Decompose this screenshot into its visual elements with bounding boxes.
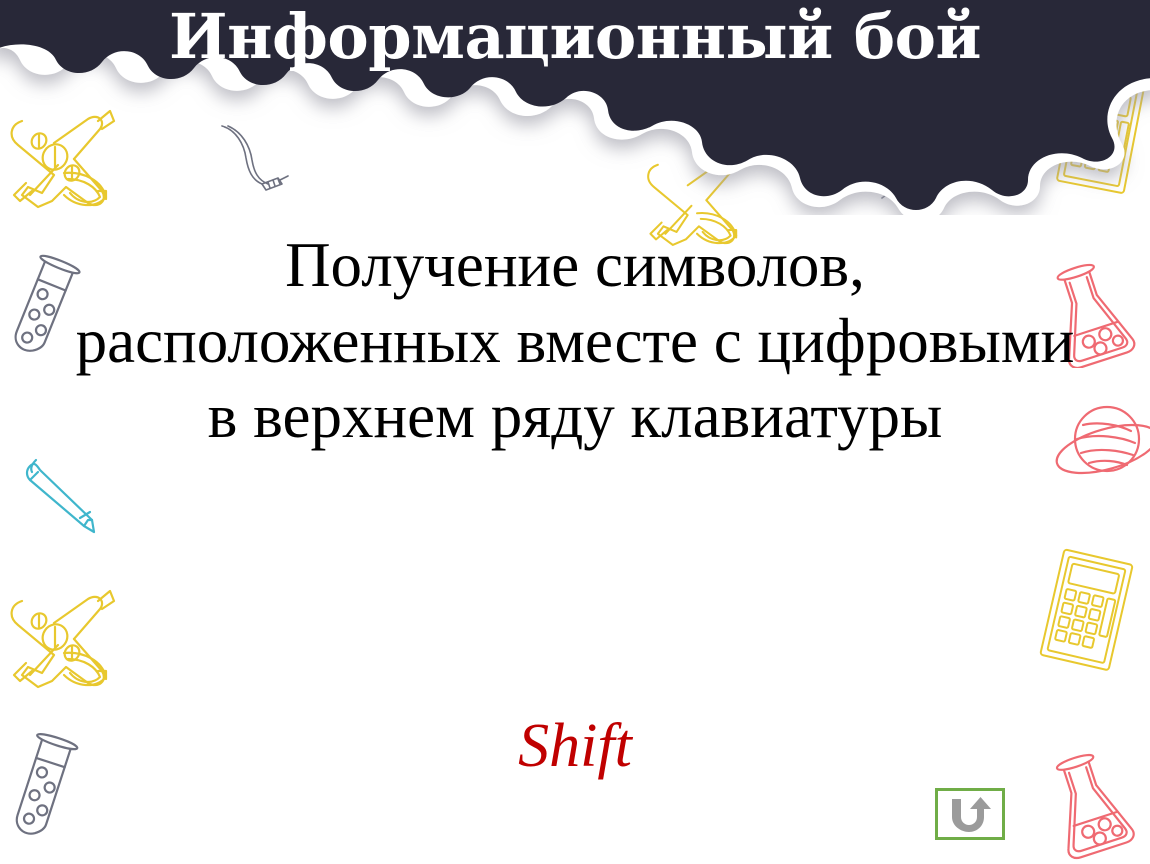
pencil-doodle <box>18 452 113 542</box>
question-text: Получение символов, расположенных вместе… <box>70 228 1080 455</box>
calculator-doodle <box>1037 548 1137 676</box>
slide-root: Информационный бой Получение символов, р… <box>0 0 1150 864</box>
answer-text: Shift <box>518 712 632 780</box>
answer-area: Shift <box>0 712 1150 780</box>
return-button[interactable] <box>935 788 1005 840</box>
u-turn-arrow-icon <box>948 795 992 833</box>
airplane-doodle <box>2 583 127 701</box>
main-content: Получение символов, расположенных вместе… <box>0 228 1150 455</box>
page-title: Информационный бой <box>0 4 1150 69</box>
header-banner: Информационный бой <box>0 0 1150 215</box>
